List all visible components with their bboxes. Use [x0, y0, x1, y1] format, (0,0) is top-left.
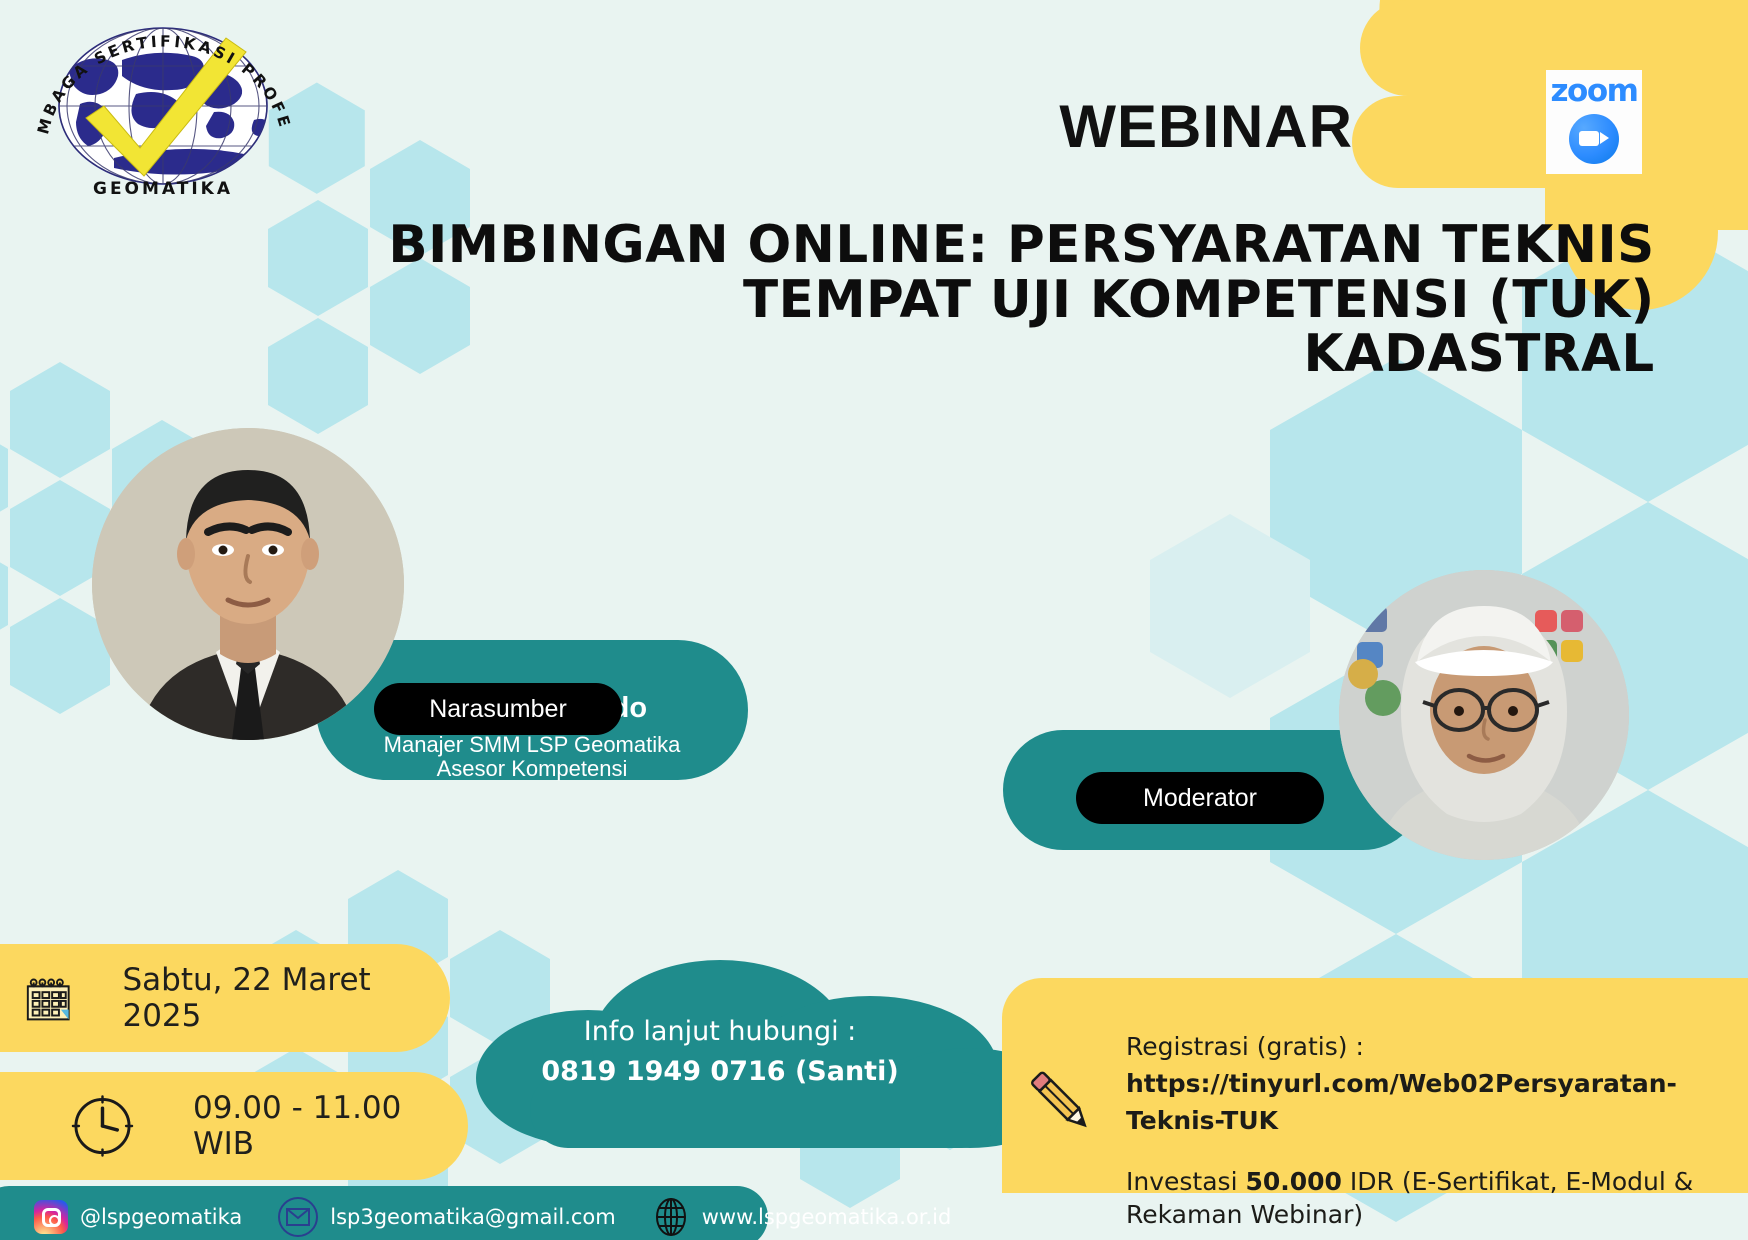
logo-base-text: GEOMATIKA — [93, 179, 233, 198]
instagram-icon — [34, 1200, 68, 1234]
footer-contact-bar: @lspgeomatika lsp3geomatika@gmail.com — [0, 1186, 768, 1240]
registration-label: Registrasi (gratis) : — [1126, 1028, 1746, 1065]
speaker-title-line-2: Asesor Kompetensi — [316, 756, 748, 782]
footer-instagram[interactable]: @lspgeomatika — [0, 1200, 242, 1234]
globe-icon — [652, 1198, 690, 1236]
contact-info: Info lanjut hubungi : 0819 1949 0716 (Sa… — [470, 1012, 970, 1092]
footer-email[interactable]: lsp3geomatika@gmail.com — [242, 1197, 615, 1237]
email-icon — [278, 1197, 318, 1237]
lsp-geomatika-logo: LEMBAGA SERTIFIKASI PROFESI GEOMATIKA — [18, 8, 308, 198]
contact-phone: 0819 1949 0716 (Santi) — [470, 1052, 970, 1092]
registration-details: Registrasi (gratis) : https://tinyurl.co… — [1126, 1028, 1746, 1231]
headline-line-2: TEMPAT UJI KOMPETENSI (TUK) — [209, 273, 1654, 328]
calendar-icon — [22, 972, 74, 1024]
page-title: BIMBINGAN ONLINE: PERSYARATAN TEKNIS TEM… — [209, 218, 1654, 382]
speaker-role-label: Narasumber — [429, 695, 567, 724]
moderator-role-badge: Moderator — [1076, 772, 1324, 824]
time-pill: 09.00 - 11.00 WIB — [0, 1072, 468, 1180]
zoom-camera-icon — [1569, 114, 1619, 164]
event-date: Sabtu, 22 Maret 2025 — [122, 962, 450, 1034]
zoom-logo: zoom — [1546, 70, 1642, 174]
investment-amount: 50.000 — [1245, 1167, 1341, 1196]
clock-icon — [70, 1093, 135, 1159]
footer-website[interactable]: www.lspgeomatika.or.id — [616, 1198, 952, 1236]
investment-prefix: Investasi — [1126, 1167, 1245, 1196]
speaker-role-badge: Narasumber — [374, 683, 622, 735]
speaker-photo — [92, 428, 404, 740]
registration-url[interactable]: https://tinyurl.com/Web02Persyaratan-Tek… — [1126, 1065, 1746, 1139]
pencil-icon — [1020, 1062, 1100, 1142]
headline-line-3: KADASTRAL — [209, 327, 1654, 382]
website-url: www.lspgeomatika.or.id — [702, 1205, 952, 1229]
date-pill: Sabtu, 22 Maret 2025 — [0, 944, 450, 1052]
contact-label: Info lanjut hubungi : — [470, 1012, 970, 1052]
webinar-poster: LEMBAGA SERTIFIKASI PROFESI GEOMATIKA WE… — [0, 0, 1748, 1240]
instagram-handle: @lspgeomatika — [80, 1205, 242, 1229]
email-address: lsp3geomatika@gmail.com — [330, 1205, 615, 1229]
event-time: 09.00 - 11.00 WIB — [193, 1090, 468, 1162]
moderator-photo — [1339, 570, 1629, 860]
headline-line-1: BIMBINGAN ONLINE: PERSYARATAN TEKNIS — [209, 218, 1654, 273]
moderator-role-label: Moderator — [1143, 784, 1257, 813]
investment-text: Investasi 50.000 IDR (E-Sertifikat, E-Mo… — [1126, 1165, 1746, 1231]
webinar-label: WEBINAR — [1059, 92, 1353, 161]
zoom-wordmark: zoom — [1546, 70, 1642, 112]
speaker-title-line-1: Manajer SMM LSP Geomatika — [316, 732, 748, 758]
